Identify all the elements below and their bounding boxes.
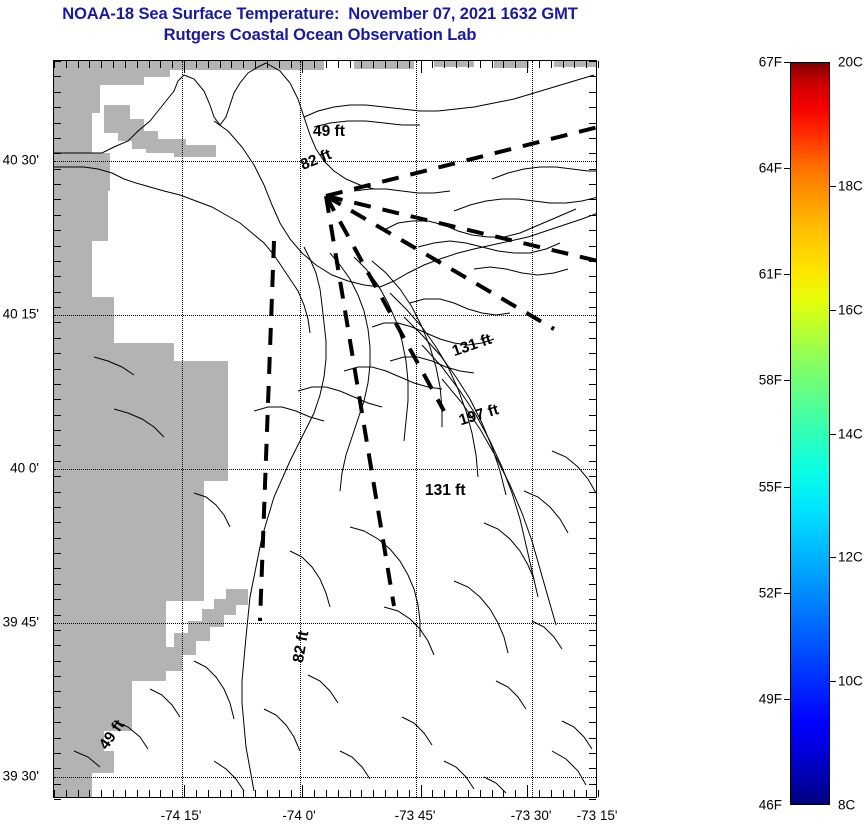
axis-tick bbox=[586, 61, 587, 68]
axis-tick bbox=[432, 61, 433, 68]
y-axis-tick-label: 40 30' bbox=[0, 153, 39, 168]
colorbar-label-fahrenheit: 64F bbox=[759, 161, 782, 176]
colorbar-label-fahrenheit: 52F bbox=[759, 585, 782, 600]
axis-tick bbox=[279, 61, 280, 68]
axis-tick bbox=[409, 61, 410, 68]
axis-tick bbox=[255, 61, 256, 68]
colorbar-label-fahrenheit: 49F bbox=[759, 691, 782, 706]
axis-tick bbox=[267, 61, 268, 68]
x-axis-ticks-top bbox=[54, 61, 596, 797]
axis-tick bbox=[243, 61, 244, 68]
colorbar-tick bbox=[830, 557, 836, 558]
colorbar-label-fahrenheit: 61F bbox=[759, 267, 782, 282]
colorbar-label-fahrenheit: 58F bbox=[759, 373, 782, 388]
axis-tick bbox=[172, 61, 173, 68]
y-axis-tick-label: 39 45' bbox=[0, 615, 39, 630]
axis-tick bbox=[385, 61, 386, 68]
x-axis-tick-label: -74 15' bbox=[161, 808, 202, 823]
axis-tick bbox=[302, 61, 303, 73]
axis-tick bbox=[66, 61, 67, 68]
axis-tick bbox=[160, 61, 161, 68]
colorbar-label-celsius: 20C bbox=[838, 55, 863, 70]
axis-tick bbox=[492, 61, 493, 68]
axis-tick bbox=[397, 61, 398, 68]
colorbar-label-celsius: 12C bbox=[838, 550, 863, 565]
axis-tick bbox=[480, 61, 481, 68]
axis-tick bbox=[574, 61, 575, 68]
sst-map-plot[interactable]: 49 ft 82 ft 131 ft 197 ft 131 ft 82 ft 4… bbox=[53, 60, 597, 798]
axis-tick bbox=[539, 61, 540, 68]
axis-tick bbox=[421, 61, 422, 73]
axis-tick bbox=[468, 61, 469, 68]
page-title: NOAA-18 Sea Surface Temperature: Novembe… bbox=[0, 4, 640, 25]
x-axis-tick-label: -73 30' bbox=[511, 808, 552, 823]
x-axis-tick-label: -74 0' bbox=[282, 808, 315, 823]
axis-tick bbox=[598, 790, 599, 797]
colorbar-label-celsius: 18C bbox=[838, 178, 863, 193]
axis-tick bbox=[125, 61, 126, 68]
colorbar-tick bbox=[830, 310, 836, 311]
axis-tick bbox=[373, 61, 374, 68]
axis-tick bbox=[563, 61, 564, 68]
page-subtitle: Rutgers Coastal Ocean Observation Lab bbox=[0, 25, 640, 46]
axis-tick bbox=[515, 61, 516, 68]
axis-tick bbox=[220, 61, 221, 68]
axis-tick bbox=[208, 61, 209, 68]
axis-tick bbox=[361, 61, 362, 68]
axis-tick bbox=[54, 799, 61, 800]
x-axis-tick-label: -73 45' bbox=[395, 808, 436, 823]
y-axis-tick-label: 40 15' bbox=[0, 307, 39, 322]
axis-tick bbox=[137, 61, 138, 68]
y-axis-tick-label: 40 0' bbox=[0, 461, 39, 476]
colorbar-label-celsius: 8C bbox=[838, 798, 855, 813]
axis-tick bbox=[101, 61, 102, 68]
axis-tick bbox=[444, 61, 445, 68]
axis-tick bbox=[589, 799, 596, 800]
axis-tick bbox=[54, 61, 55, 68]
chart-title-block: NOAA-18 Sea Surface Temperature: Novembe… bbox=[0, 4, 640, 46]
axis-tick bbox=[326, 61, 327, 68]
axis-tick bbox=[149, 61, 150, 68]
axis-tick bbox=[527, 61, 528, 73]
x-axis-tick-label: -73 15' bbox=[577, 808, 618, 823]
axis-tick bbox=[78, 61, 79, 68]
axis-tick bbox=[231, 61, 232, 68]
axis-tick bbox=[350, 61, 351, 68]
colorbar-label-fahrenheit: 67F bbox=[759, 55, 782, 70]
colorbar-tick bbox=[830, 681, 836, 682]
axis-tick bbox=[184, 61, 185, 73]
colorbar-label-fahrenheit: 46F bbox=[759, 798, 782, 813]
colorbar-label-celsius: 14C bbox=[838, 426, 863, 441]
colorbar-label-celsius: 16C bbox=[838, 302, 863, 317]
axis-tick bbox=[503, 61, 504, 68]
colorbar-label-celsius: 10C bbox=[838, 674, 863, 689]
colorbar-widget[interactable]: 67F64F61F58F55F52F49F46F 20C18C16C14C12C… bbox=[790, 62, 830, 805]
colorbar-label-fahrenheit: 55F bbox=[759, 479, 782, 494]
colorbar-tick bbox=[830, 186, 836, 187]
axis-tick bbox=[196, 61, 197, 68]
y-axis-tick-label: 39 30' bbox=[0, 769, 39, 784]
axis-tick bbox=[551, 61, 552, 68]
axis-tick bbox=[113, 61, 114, 68]
colorbar-celsius-labels: 20C18C16C14C12C10C8C bbox=[790, 62, 830, 805]
axis-tick bbox=[338, 61, 339, 68]
axis-tick bbox=[456, 61, 457, 68]
axis-tick bbox=[314, 61, 315, 68]
axis-tick bbox=[598, 61, 599, 68]
axis-tick bbox=[89, 61, 90, 68]
axis-tick bbox=[291, 61, 292, 68]
colorbar-tick bbox=[830, 434, 836, 435]
